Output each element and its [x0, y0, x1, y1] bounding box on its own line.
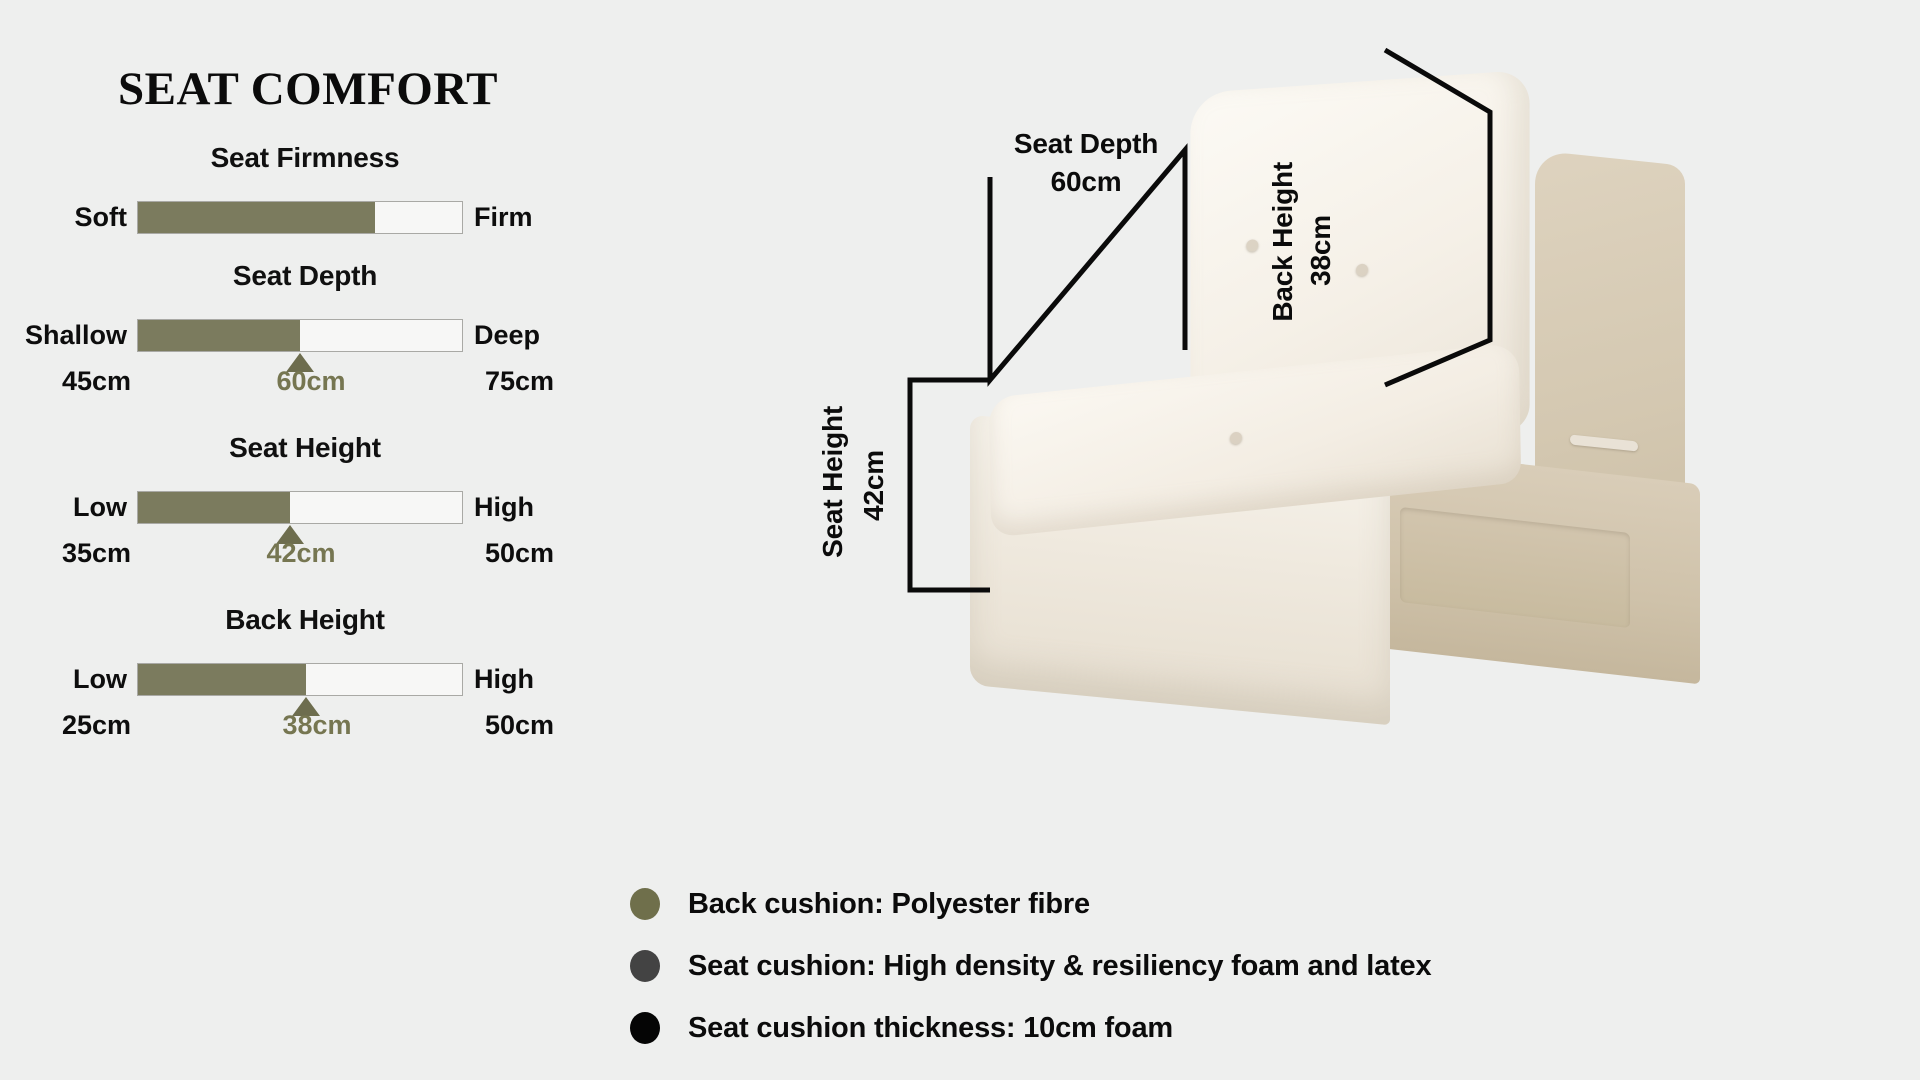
slider-track-seat-firmness[interactable]	[137, 201, 463, 234]
slider-seat-depth[interactable]: Shallow Deep	[0, 316, 600, 354]
legend-label-seat-cushion: Seat cushion: High density & resiliency …	[688, 950, 1431, 983]
value-current-back-height: 38cm	[282, 710, 351, 741]
legend-dot-icon-back-cushion	[630, 888, 660, 920]
dim-label-seat-depth-value: 60cm	[996, 166, 1176, 198]
value-max-seat-height: 50cm	[485, 538, 554, 569]
group-title-back-height: Back Height	[0, 604, 600, 636]
legend-label-seat-cushion-thickness: Seat cushion thickness: 10cm foam	[688, 1012, 1173, 1045]
comfort-group-seat-height: Seat Height Low High 35cm 42cm 50cm	[0, 432, 600, 586]
comfort-group-back-height: Back Height Low High 25cm 38cm 50cm	[0, 604, 600, 758]
materials-legend: Back cushion: Polyester fibre Seat cushi…	[630, 873, 1910, 1059]
group-title-seat-height: Seat Height	[0, 432, 600, 464]
slider-min-label-seat-height: Low	[0, 492, 137, 523]
seat-comfort-infographic: SEAT COMFORT Seat Firmness Soft Firm Sea…	[0, 0, 1920, 1080]
value-min-back-height: 25cm	[62, 710, 131, 741]
slider-fill-seat-depth	[138, 320, 300, 351]
slider-values-seat-depth: 45cm 60cm 75cm	[0, 366, 600, 414]
comfort-panel: SEAT COMFORT Seat Firmness Soft Firm Sea…	[0, 0, 740, 1080]
slider-min-label-back-height: Low	[0, 664, 137, 695]
slider-back-height[interactable]: Low High	[0, 660, 600, 698]
slider-min-label-seat-firmness: Soft	[0, 202, 137, 233]
value-max-back-height: 50cm	[485, 710, 554, 741]
slider-values-back-height: 25cm 38cm 50cm	[0, 710, 600, 758]
slider-values-seat-height: 35cm 42cm 50cm	[0, 538, 600, 586]
page-title: SEAT COMFORT	[0, 62, 608, 116]
slider-max-label-seat-height: High	[463, 492, 534, 523]
sofa-product-image: Seat Depth 60cm Back Height 38cm Seat He…	[800, 40, 1880, 700]
dim-label-seat-depth-title: Seat Depth	[996, 128, 1176, 160]
slider-max-label-back-height: High	[463, 664, 534, 695]
dim-label-back-height-title: Back Height	[1267, 162, 1299, 322]
slider-max-label-seat-firmness: Firm	[463, 202, 533, 233]
slider-fill-seat-height	[138, 492, 290, 523]
legend-dot-icon-seat-cushion	[630, 950, 660, 982]
dim-label-seat-depth: Seat Depth 60cm	[996, 128, 1176, 198]
value-min-seat-height: 35cm	[62, 538, 131, 569]
slider-track-seat-height[interactable]	[137, 491, 463, 524]
group-title-seat-depth: Seat Depth	[0, 260, 600, 292]
value-max-seat-depth: 75cm	[485, 366, 554, 397]
group-title-seat-firmness: Seat Firmness	[0, 142, 600, 174]
comfort-group-seat-depth: Seat Depth Shallow Deep 45cm 60cm 75cm	[0, 260, 600, 414]
dim-label-back-height-value: 38cm	[1305, 215, 1337, 286]
legend-item-back-cushion: Back cushion: Polyester fibre	[630, 873, 1910, 935]
value-current-seat-height: 42cm	[266, 538, 335, 569]
value-min-seat-depth: 45cm	[62, 366, 131, 397]
legend-item-seat-cushion: Seat cushion: High density & resiliency …	[630, 935, 1910, 997]
slider-min-label-seat-depth: Shallow	[0, 320, 137, 351]
slider-seat-firmness[interactable]: Soft Firm	[0, 198, 600, 236]
value-current-seat-depth: 60cm	[276, 366, 345, 397]
slider-seat-height[interactable]: Low High	[0, 488, 600, 526]
dim-label-seat-height-title: Seat Height	[817, 406, 849, 558]
legend-dot-icon-seat-cushion-thickness	[630, 1012, 660, 1044]
comfort-group-seat-firmness: Seat Firmness Soft Firm	[0, 142, 600, 236]
dim-label-seat-height-value: 42cm	[858, 450, 890, 521]
slider-track-seat-depth[interactable]	[137, 319, 463, 352]
legend-item-seat-cushion-thickness: Seat cushion thickness: 10cm foam	[630, 997, 1910, 1059]
legend-label-back-cushion: Back cushion: Polyester fibre	[688, 888, 1090, 921]
slider-track-back-height[interactable]	[137, 663, 463, 696]
slider-fill-back-height	[138, 664, 306, 695]
slider-max-label-seat-depth: Deep	[463, 320, 540, 351]
slider-fill-seat-firmness	[138, 202, 375, 233]
